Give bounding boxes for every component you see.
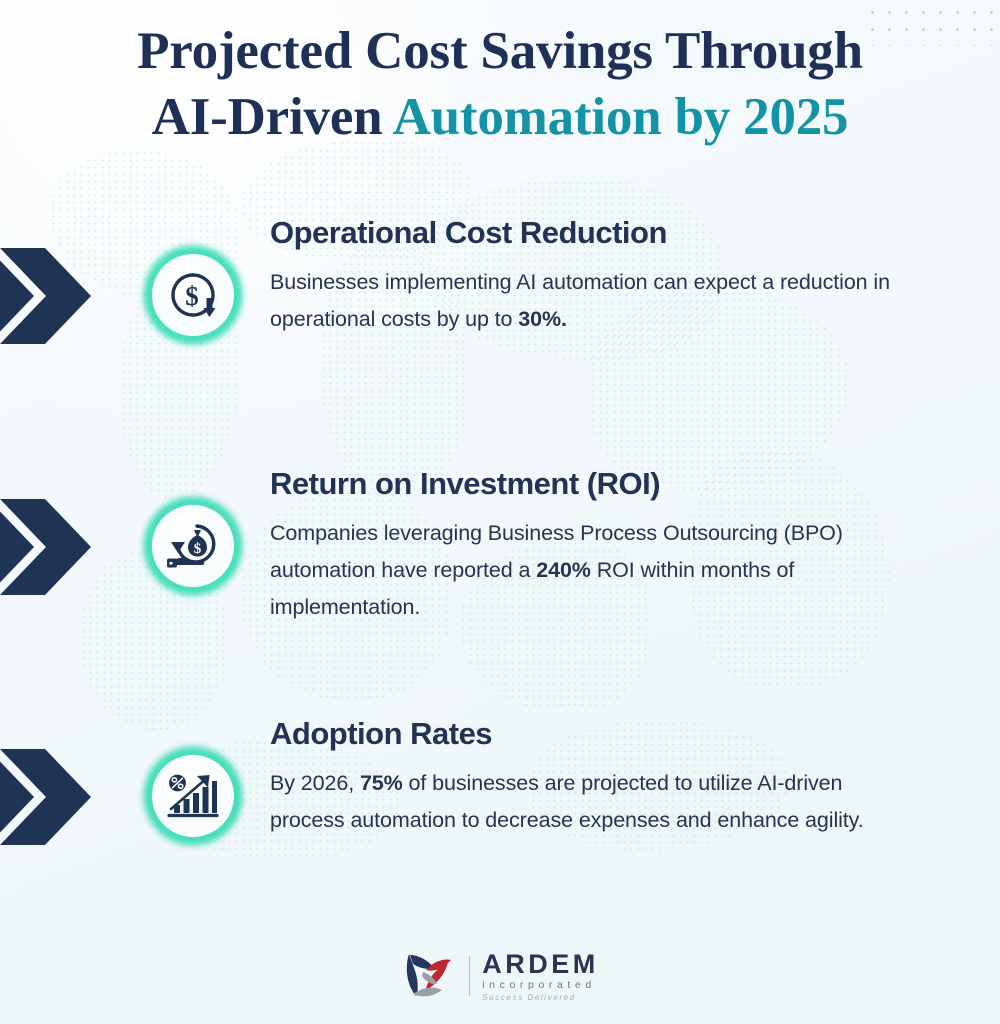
info-section-operational-cost-reduction: $ Operational Cost Reduction Businesses … [0, 208, 1000, 408]
ardem-logo: ARDEM incorporated Success Delivered [0, 942, 1000, 1010]
section-body: Companies leveraging Business Process Ou… [270, 515, 890, 626]
double-chevron-icon [0, 499, 118, 595]
info-section-adoption-rates: Adoption Rates By 2026, 75% of businesse… [0, 709, 1000, 909]
svg-text:$: $ [194, 541, 202, 557]
dollar-cost-down-icon: $ [152, 254, 234, 336]
section-heading: Return on Investment (ROI) [270, 465, 890, 503]
section-body: Businesses implementing AI automation ca… [270, 264, 890, 338]
growth-bar-chart-percent-icon [152, 755, 234, 837]
double-chevron-icon [0, 248, 118, 344]
svg-text:$: $ [185, 281, 199, 311]
section-stat: 30%. [518, 307, 567, 331]
logo-text-group: ARDEM incorporated Success Delivered [482, 950, 599, 1003]
page-title: Projected Cost Savings Through AI-Driven… [0, 18, 1000, 150]
section-icon-wrapper: $ [140, 242, 246, 348]
section-icon-wrapper [140, 743, 246, 849]
title-line-1: Projected Cost Savings Through [0, 18, 1000, 84]
section-text-column: Return on Investment (ROI) Companies lev… [270, 465, 890, 626]
section-text-column: Adoption Rates By 2026, 75% of businesse… [270, 715, 890, 839]
title-line-2: AI-Driven Automation by 2025 [0, 84, 1000, 150]
section-body-part: Businesses implementing AI automation ca… [270, 270, 890, 331]
section-body-part: By 2026, [270, 771, 360, 795]
title-line-2-plain: AI-Driven [152, 88, 393, 146]
ardem-swoosh-logo-icon [401, 950, 457, 1002]
section-heading: Adoption Rates [270, 715, 890, 753]
logo-subtitle: incorporated [482, 978, 596, 992]
hand-money-bag-return-icon: $ [152, 505, 234, 587]
section-text-column: Operational Cost Reduction Businesses im… [270, 214, 890, 338]
info-section-return-on-investment: $ Return on Investment (ROI) Companies l… [0, 459, 1000, 659]
logo-tagline: Success Delivered [482, 992, 575, 1003]
section-body: By 2026, 75% of businesses are projected… [270, 765, 890, 839]
double-chevron-icon [0, 749, 118, 845]
section-icon-wrapper: $ [140, 493, 246, 599]
logo-divider [469, 956, 470, 996]
title-line-2-accent: Automation by 2025 [393, 88, 849, 146]
section-stat: 75% [360, 771, 403, 795]
logo-wordmark: ARDEM [482, 950, 599, 978]
section-stat: 240% [536, 558, 591, 582]
section-heading: Operational Cost Reduction [270, 214, 890, 252]
